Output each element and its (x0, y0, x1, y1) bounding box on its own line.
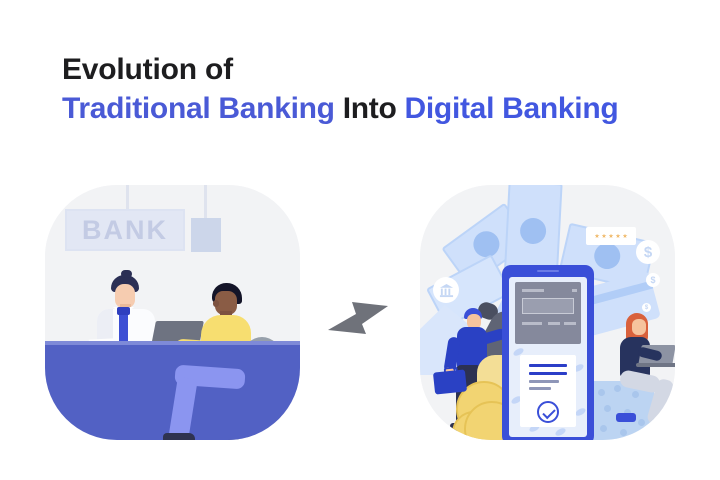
woman-laptop-base (636, 363, 675, 367)
block-texture-dot (614, 385, 621, 392)
page-title: Evolution of Traditional Banking Into Di… (62, 55, 702, 124)
block-texture-dot (620, 429, 627, 436)
success-check-icon (537, 401, 559, 423)
page-root: Evolution of Traditional Banking Into Di… (0, 0, 720, 480)
ceiling-lamp-rod (204, 185, 207, 221)
dollar-sign-icon: $ (646, 273, 660, 287)
banknote-portrait (592, 241, 623, 272)
star-icon (602, 234, 607, 239)
form-field-line (564, 322, 576, 325)
bank-sign-label: BANK (82, 215, 168, 246)
bank-building-badge (433, 277, 459, 303)
woman-shoe (616, 413, 636, 422)
title-traditional-banking: Traditional Banking (62, 92, 335, 125)
dollar-sign-icon: $ (636, 240, 660, 264)
coin-fleck (554, 427, 567, 437)
block-texture-dot (598, 389, 605, 396)
block-texture-dot (632, 391, 639, 398)
bank-building-icon (439, 283, 454, 298)
block-texture-dot (604, 405, 611, 412)
phone-screen[interactable] (509, 277, 587, 437)
title-line-1: Evolution of (62, 55, 702, 85)
smartphone[interactable] (502, 265, 594, 440)
receipt-line (529, 372, 567, 375)
dollar-sign-icon: $ (642, 303, 651, 312)
receipt-line (529, 387, 551, 390)
woman-face (632, 319, 646, 335)
customer-ear (213, 300, 219, 307)
star-icon (616, 234, 621, 239)
star-icon (595, 234, 600, 239)
block-texture-dot (638, 419, 645, 426)
banknote-portrait (519, 217, 546, 244)
receipt-line (529, 380, 559, 383)
star-rating-badge (586, 227, 636, 245)
phone-speaker (537, 270, 559, 272)
traditional-banking-illustration: BANK (45, 185, 300, 440)
receipt-line (529, 364, 567, 367)
coin-fleck (574, 407, 587, 417)
customer-shoe (163, 433, 195, 440)
title-digital-banking: Digital Banking (405, 92, 619, 125)
card-number-field[interactable] (522, 298, 574, 314)
star-icon (609, 234, 614, 239)
bank-sign-rod (126, 185, 129, 211)
briefcase-icon (433, 369, 467, 394)
title-line-2: Traditional Banking Into Digital Banking (62, 94, 702, 124)
form-field-line (522, 322, 542, 325)
form-label-line (522, 289, 544, 292)
bank-sign: BANK (65, 209, 185, 251)
arrow-right-icon (326, 296, 390, 340)
star-icon (623, 234, 628, 239)
form-icon-line (572, 289, 577, 292)
form-field-line (548, 322, 560, 325)
ceiling-lamp-icon (191, 218, 221, 252)
transaction-receipt (520, 355, 576, 427)
transition-arrow (326, 296, 390, 340)
payment-form-panel[interactable] (515, 282, 581, 344)
title-into: Into (335, 92, 405, 125)
digital-banking-illustration: $ $ $ $ (420, 185, 675, 440)
block-texture-dot (600, 425, 607, 432)
